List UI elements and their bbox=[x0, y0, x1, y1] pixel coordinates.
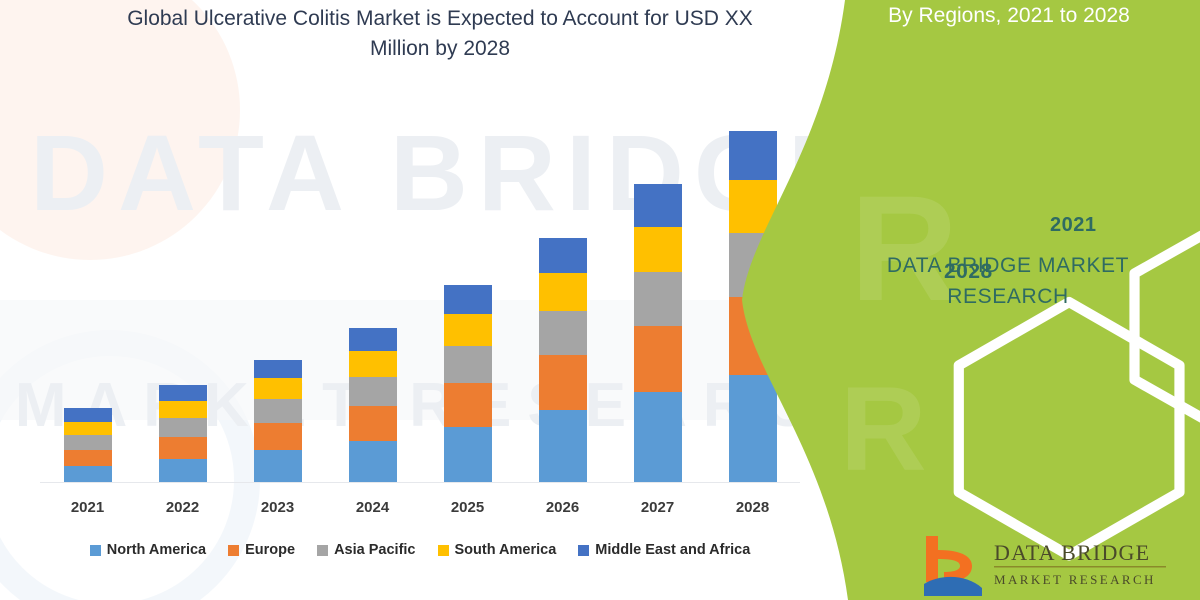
x-axis-labels: 20212022202320242025202620272028 bbox=[40, 492, 800, 522]
bar-segment-2023-s2 bbox=[254, 399, 302, 423]
legend-item-0[interactable]: North America bbox=[90, 542, 206, 558]
logo-svg: DATA BRIDGE MARKET RESEARCH bbox=[920, 534, 1188, 596]
bar-2026 bbox=[539, 238, 587, 482]
svg-text:DATA BRIDGE: DATA BRIDGE bbox=[994, 540, 1150, 565]
x-axis-label-2022: 2022 bbox=[159, 499, 207, 516]
bar-segment-2021-s4 bbox=[64, 408, 112, 422]
bar-segment-2021-s1 bbox=[64, 450, 112, 466]
bar-segment-2024-s1 bbox=[349, 406, 397, 441]
bar-segment-2027-s1 bbox=[634, 326, 682, 392]
svg-text:R: R bbox=[840, 362, 927, 496]
legend-label-1: Europe bbox=[245, 542, 295, 558]
legend-label-0: North America bbox=[107, 542, 206, 558]
brand-line-1: DATA BRIDGE MARKET bbox=[848, 250, 1168, 281]
x-axis-label-2024: 2024 bbox=[349, 499, 397, 516]
bar-segment-2024-s4 bbox=[349, 328, 397, 351]
legend-swatch-icon-1 bbox=[228, 545, 239, 556]
bar-2025 bbox=[444, 285, 492, 482]
bar-segment-2025-s0 bbox=[444, 427, 492, 482]
legend-label-4: Middle East and Africa bbox=[595, 542, 750, 558]
legend-label-2: Asia Pacific bbox=[334, 542, 415, 558]
chart-legend: North AmericaEuropeAsia PacificSouth Ame… bbox=[40, 536, 800, 564]
bar-segment-2025-s4 bbox=[444, 285, 492, 314]
bar-segment-2023-s3 bbox=[254, 378, 302, 398]
chart-title: Global Ulcerative Colitis Market is Expe… bbox=[110, 4, 770, 64]
bar-segment-2022-s1 bbox=[159, 437, 207, 458]
logo-mark-icon bbox=[924, 536, 982, 596]
bar-segment-2024-s3 bbox=[349, 351, 397, 376]
legend-label-3: South America bbox=[455, 542, 557, 558]
legend-swatch-icon-3 bbox=[438, 545, 449, 556]
bar-segment-2026-s2 bbox=[539, 311, 587, 356]
right-green-panel: R R By Regions, 2021 to 2028 2021 2028 D… bbox=[730, 0, 1200, 600]
bar-segment-2021-s2 bbox=[64, 435, 112, 450]
bar-segment-2025-s1 bbox=[444, 383, 492, 428]
x-axis-label-2023: 2023 bbox=[254, 499, 302, 516]
legend-swatch-icon-4 bbox=[578, 545, 589, 556]
bar-segment-2023-s1 bbox=[254, 423, 302, 450]
bar-segment-2023-s0 bbox=[254, 450, 302, 482]
legend-item-3[interactable]: South America bbox=[438, 542, 557, 558]
legend-item-4[interactable]: Middle East and Africa bbox=[578, 542, 750, 558]
plot-area bbox=[40, 90, 800, 482]
hexagons-svg bbox=[922, 92, 1200, 600]
bar-2021 bbox=[64, 408, 112, 482]
bar-segment-2022-s3 bbox=[159, 401, 207, 419]
bar-segment-2022-s0 bbox=[159, 459, 207, 482]
x-axis-label-2021: 2021 bbox=[64, 499, 112, 516]
bar-segment-2023-s4 bbox=[254, 360, 302, 379]
legend-swatch-icon-0 bbox=[90, 545, 101, 556]
brand-line-2: RESEARCH bbox=[848, 281, 1168, 312]
data-bridge-logo: DATA BRIDGE MARKET RESEARCH bbox=[920, 534, 1188, 596]
bar-segment-2022-s2 bbox=[159, 418, 207, 437]
brand-name: DATA BRIDGE MARKET RESEARCH bbox=[848, 250, 1168, 312]
bar-2022 bbox=[159, 385, 207, 482]
x-axis-line bbox=[40, 482, 800, 483]
legend-item-1[interactable]: Europe bbox=[228, 542, 295, 558]
bar-segment-2027-s0 bbox=[634, 392, 682, 482]
infographic-canvas: DATA BRIDGE MARKET RESEARCH Global Ulcer… bbox=[0, 0, 1200, 600]
bar-segment-2026-s1 bbox=[539, 355, 587, 410]
hexagon-group: 2021 2028 bbox=[922, 92, 1152, 232]
bar-segment-2024-s0 bbox=[349, 441, 397, 482]
hexagon-2028 bbox=[959, 302, 1180, 555]
bar-segment-2022-s4 bbox=[159, 385, 207, 401]
panel-subtitle: By Regions, 2021 to 2028 bbox=[844, 2, 1174, 30]
bar-2024 bbox=[349, 328, 397, 482]
bar-segment-2025-s2 bbox=[444, 346, 492, 383]
bar-group bbox=[40, 90, 800, 482]
bar-segment-2027-s3 bbox=[634, 227, 682, 272]
legend-swatch-icon-2 bbox=[317, 545, 328, 556]
bar-segment-2027-s4 bbox=[634, 184, 682, 227]
hexagon-2021-label: 2021 bbox=[1050, 214, 1097, 237]
bar-segment-2021-s3 bbox=[64, 422, 112, 436]
bar-segment-2025-s3 bbox=[444, 314, 492, 345]
bar-segment-2026-s3 bbox=[539, 273, 587, 310]
bar-2027 bbox=[634, 184, 682, 482]
bar-segment-2021-s0 bbox=[64, 466, 112, 482]
legend-item-2[interactable]: Asia Pacific bbox=[317, 542, 415, 558]
bar-2023 bbox=[254, 360, 302, 482]
bar-segment-2026-s4 bbox=[539, 238, 587, 273]
bar-segment-2027-s2 bbox=[634, 272, 682, 327]
x-axis-label-2026: 2026 bbox=[539, 499, 587, 516]
x-axis-label-2025: 2025 bbox=[444, 499, 492, 516]
x-axis-label-2027: 2027 bbox=[634, 499, 682, 516]
bar-segment-2024-s2 bbox=[349, 377, 397, 406]
svg-text:MARKET RESEARCH: MARKET RESEARCH bbox=[994, 572, 1156, 587]
bar-segment-2026-s0 bbox=[539, 410, 587, 482]
